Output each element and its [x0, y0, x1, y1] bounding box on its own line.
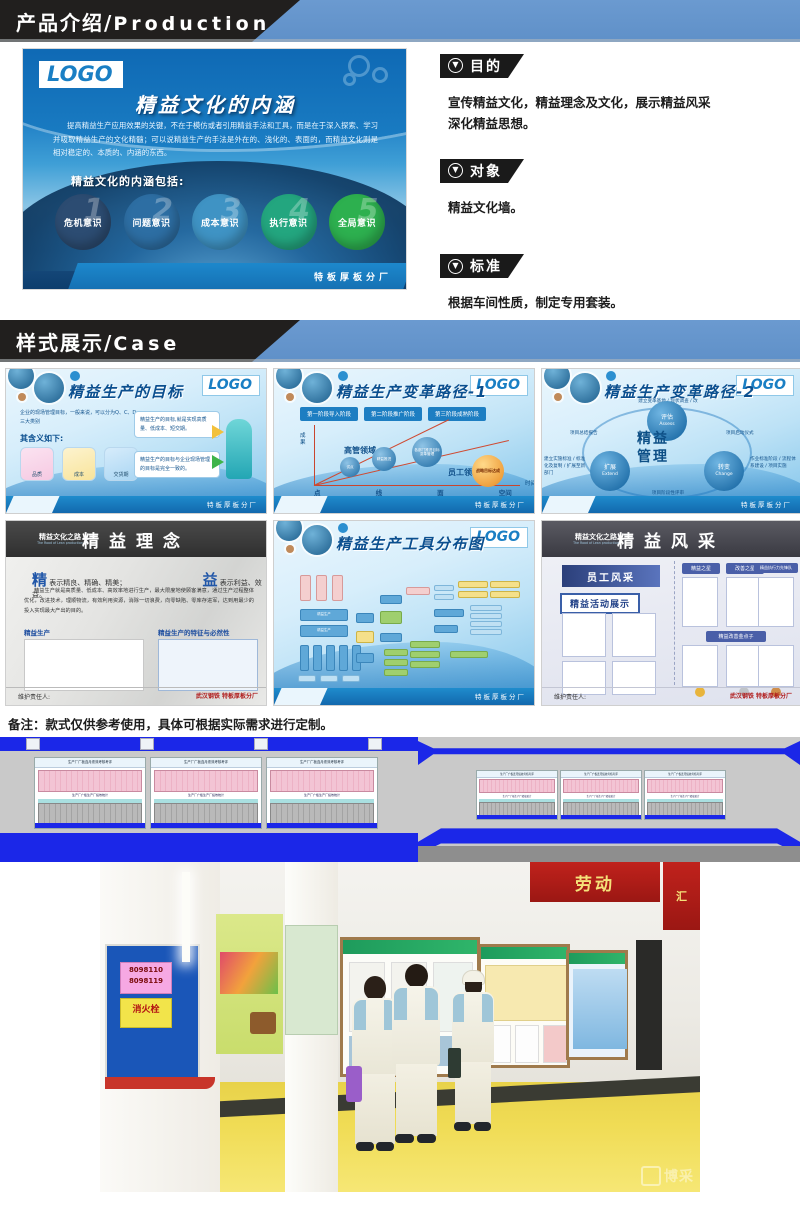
cycle-caption-left-list: 建立实施标准 / 标准化及复制 / 扩展至新部门: [544, 457, 588, 478]
thumb-title: 精益生产工具分布图: [336, 533, 485, 554]
board-gray-table: [38, 803, 141, 825]
concept-text-jing: 表示精良、精确、精美；: [49, 579, 126, 587]
gear-icon: [343, 73, 356, 86]
poster-subtitle: 精益文化的内涵包括:: [71, 173, 184, 189]
quality-label: 品质: [32, 471, 42, 478]
poster-circle-item: 4 执行意识: [261, 194, 317, 250]
map-node: [470, 621, 502, 627]
green-poster-art: [220, 952, 278, 994]
map-node: [339, 645, 348, 671]
thumb-footer-text: 特板厚板分厂: [475, 499, 526, 509]
notice-sheet: [485, 965, 569, 1021]
section-title-production: 产品介绍/Production: [0, 7, 270, 36]
map-node: [320, 675, 338, 682]
poster-circle-label: 危机意识: [64, 216, 102, 229]
phase-chip-group: 第一阶段导入阶段 第二阶段推广阶段 第三阶段成熟阶段: [300, 407, 486, 421]
map-node: [490, 591, 520, 598]
board-header: 生产厂广板连月绩效考核考评: [35, 758, 145, 768]
render-row: 生产厂广板连月绩效考核考评 生产厂广板生产厂绩效统计 生产厂广板连月绩效考核考评…: [0, 737, 800, 862]
chart-bubble: 试点: [340, 457, 360, 477]
info-block-target: ▼ 对象 精益文化墙。: [440, 157, 790, 218]
map-root-node-2: 精益生产: [300, 625, 348, 637]
case-body: LOGO 精益生产的目标 企业的现场管理目标，一般来说，可以分为Q、C、D三大类…: [0, 368, 800, 733]
poster-circle-item: 3 成本意识: [192, 194, 248, 250]
qcd-icon-group: 品质 成本 交货期: [20, 447, 138, 481]
thumb-desc: 企业的现场管理目标，一般来说，可以分为Q、C、D三大类别: [20, 409, 140, 426]
poster-circle-item: 5 全局意识: [329, 194, 385, 250]
map-node: [326, 645, 335, 671]
map-node: [356, 613, 374, 623]
chart-bubble: 各部门推进目标变革管理: [412, 437, 442, 467]
thumb-footer: 维护责任人: 武汉钢铁 特板厚板分厂: [6, 687, 266, 705]
board-footer: [267, 823, 377, 828]
showcase-banner: 员工风采: [562, 565, 660, 587]
map-node: [384, 659, 408, 666]
showcase-chip: 精益之星: [682, 563, 720, 574]
render-board: 生产厂广板连月绩效考核考评 生产厂广板生产厂绩效统计: [266, 757, 378, 829]
board-mid-label: 生产厂广板生产厂绩效统计: [151, 793, 261, 797]
worker-shoulder-trim: [354, 1000, 366, 1030]
wall-top-strip: [0, 737, 418, 751]
worker-shoulder-trim: [425, 988, 438, 1020]
render-board: 生产厂广板连月绩效考核考评 生产厂广板生产厂绩效统计: [150, 757, 262, 829]
thumb-footer: 特板厚板分厂: [274, 688, 534, 705]
site-photo[interactable]: 8098110 8098119 消火栓: [100, 862, 700, 1192]
concept-link-1[interactable]: 精益生产: [24, 627, 50, 637]
room-floor: [418, 846, 800, 862]
thumb-footer: 特板厚板分厂: [274, 496, 534, 513]
showcase-photo-slot: [726, 645, 762, 687]
notice-board-header: [569, 953, 625, 964]
thumb-callout-1: 精益生产的目标,就是实现高质量、低成本、短交期。: [134, 411, 220, 438]
blob-decor: [570, 373, 600, 403]
cost-icon: 成本: [62, 447, 96, 481]
note-text: 备注：款式仅供参考使用，具体可根据实际需求进行定制。: [8, 714, 800, 733]
board-mid-label: 生产厂广板生产厂绩效统计: [35, 793, 145, 797]
map-node: [450, 651, 488, 658]
path-chart: 成果 时间 高管领域 员工领域 试点 精益推进 各部门推进目标变革管理 战略目标…: [300, 425, 520, 491]
worker-shoe: [454, 1122, 471, 1131]
case-thumb-path-1[interactable]: LOGO 精益生产变革路径-1 第一阶段导入阶段 第二阶段推广阶段 第三阶段成熟…: [273, 368, 535, 514]
phase-chip: 第一阶段导入阶段: [300, 407, 358, 421]
blob-decor: [338, 371, 348, 381]
map-node: [434, 609, 464, 617]
poster-logo: LOGO: [39, 61, 123, 88]
map-node: [410, 661, 440, 668]
board-header: 生产厂广板连月绩效考核考评: [645, 771, 725, 778]
chart-goal-bubble: 战略目标达成: [472, 455, 504, 487]
cost-label: 成本: [74, 471, 84, 478]
board-header: 生产厂广板连月绩效考核考评: [561, 771, 641, 778]
watermark-logo-icon: [641, 1166, 661, 1186]
board-mid-label: 生产厂广板生产厂绩效统计: [267, 793, 377, 797]
chart-domain-top: 高管领域: [344, 445, 376, 456]
board-footer: [35, 823, 145, 828]
render-board: 生产厂广板连月绩效考核考评 生产厂广板生产厂绩效统计: [476, 770, 558, 820]
board-gray-table: [270, 803, 373, 825]
info-text-purpose: 宣传精益文化，精益理念及文化，展示精益风采 深化精益思想。: [448, 92, 790, 136]
brand-badge-sub: The Road of Lean production: [573, 541, 619, 545]
case-thumb-tools-map[interactable]: LOGO 精益生产工具分布图 精益生产 精益生产: [273, 520, 535, 706]
board-footer: [645, 815, 725, 819]
green-poster-photo: [250, 1012, 276, 1034]
blob-decor: [286, 393, 294, 401]
showcase-photo-slot: [562, 613, 606, 657]
blob-decor: [302, 373, 332, 403]
concept-panel-right: [158, 639, 258, 691]
thumb-footer-text: 特板厚板分厂: [741, 499, 792, 509]
concept-link-2[interactable]: 精益生产的特征与必然性: [158, 627, 230, 637]
board-pink-table: [479, 779, 554, 793]
delivery-label: 交货期: [113, 471, 128, 478]
concept-panel-left: [24, 639, 144, 691]
board-title: 生产厂广板连月绩效考核考评: [477, 772, 557, 776]
thumb-footer-left: 维护责任人:: [18, 692, 50, 701]
board-title: 生产厂广板连月绩效考核考评: [35, 759, 145, 764]
cycle-caption-right-arrow: 项目启动仪式: [726, 431, 778, 438]
info-tag-label: 对象: [470, 161, 502, 181]
map-node: [356, 653, 374, 663]
map-node: [470, 629, 502, 635]
showcase-divider: [674, 561, 675, 685]
section-header-case: 样式展示/Case: [0, 320, 800, 362]
section-header-dark-panel: 样式展示/Case: [0, 320, 300, 362]
map-node: [380, 611, 402, 624]
brand-badge: 精益文化之路 The Road of Lean production: [556, 527, 636, 551]
poster-circle-item: 1 危机意识: [55, 194, 111, 250]
chart-bubble: 精益推进: [372, 447, 396, 471]
info-tag-purpose: ▼ 目的: [440, 54, 508, 78]
worker-2: [392, 964, 440, 1150]
thumb-header-bar: 精益理念 精益文化之路 The Road of Lean production: [6, 521, 266, 557]
chart-y-label: 成果: [300, 433, 308, 446]
poster-circle-list: 1 危机意识 2 问题意识 3 成本意识 4 执行意识 5 全局意识: [55, 194, 385, 250]
map-node: [313, 645, 322, 671]
board-footer: [477, 815, 557, 819]
map-node: [384, 669, 408, 676]
cycle-node-extend: 扩展 Extend: [590, 451, 630, 491]
board-title: 生产厂广板连月绩效考核考评: [645, 772, 725, 776]
phase-chip: 第三阶段成熟阶段: [428, 407, 486, 421]
map-node: [406, 587, 430, 595]
section-title-cn: 产品介绍: [16, 11, 104, 35]
section-title-case: 样式展示/Case: [0, 327, 180, 356]
thumb-footer-left: 维护责任人:: [554, 692, 586, 701]
chevron-down-circle-icon: ▼: [448, 259, 463, 274]
blob-decor: [302, 525, 332, 555]
hydrant-base-shelf: [105, 1077, 215, 1089]
notice-sheet: [543, 1025, 567, 1063]
poster-circle-label: 执行意识: [269, 216, 307, 229]
emergency-number-1: 8098110: [121, 965, 171, 976]
section-title-cn: 样式展示: [16, 331, 104, 355]
poster-circle-label: 成本意识: [201, 216, 239, 229]
board-pink-table: [270, 770, 373, 792]
showcase-chip-mid: 精益改善金点子: [706, 631, 766, 642]
worker-3: [452, 970, 494, 1136]
map-root-node: 精益生产: [300, 609, 348, 621]
blob-decor: [544, 368, 570, 389]
cycle-node-change: 转变 Change: [704, 451, 744, 491]
emergency-number-sign: 8098110 8098119: [120, 962, 172, 994]
board-title: 生产厂广板连月绩效考核考评: [561, 772, 641, 776]
quality-icon: 品质: [20, 447, 54, 481]
blob-decor: [18, 393, 26, 401]
map-node: [342, 675, 360, 682]
thumb-header-bar: 精益风采 精益文化之路 The Road of Lean production: [542, 521, 800, 557]
info-text-standard: 根据车间性质，制定专用套装。: [448, 292, 790, 314]
wall-light-fixture: [26, 738, 40, 750]
thumb-footer: 特板厚板分厂: [542, 496, 800, 513]
notice-board-header: [481, 947, 567, 959]
case-thumb-lean-concept[interactable]: 精益理念 精益文化之路 The Road of Lean production …: [5, 520, 267, 706]
worker-shoulder-trim: [482, 994, 493, 1022]
red-banner-2: 汇: [663, 862, 700, 930]
blob-decor: [70, 371, 80, 381]
case-thumb-lean-showcase[interactable]: 精益风采 精益文化之路 The Road of Lean production …: [541, 520, 800, 706]
thumb-subtitle: 其含义如下:: [20, 433, 63, 444]
board-pink-table: [154, 770, 257, 792]
render-front-view[interactable]: 生产厂广板连月绩效考核考评 生产厂广板生产厂绩效统计 生产厂广板连月绩效考核考评…: [0, 737, 418, 862]
showcase-left-title: 精益活动展示: [560, 593, 640, 614]
map-node: [434, 594, 454, 600]
showcase-photo-slot: [758, 645, 794, 687]
worker-shoulder-trim: [394, 988, 407, 1020]
chevron-down-circle-icon: ▼: [448, 58, 463, 73]
info-block-purpose: ▼ 目的 宣传精益文化，精益理念及文化，展示精益风采 深化精益思想。: [440, 52, 790, 135]
blob-decor: [8, 368, 34, 389]
map-node: [316, 575, 327, 601]
info-line: 根据车间性质，制定专用套装。: [448, 292, 790, 314]
section-header-production: 产品介绍/Production: [0, 0, 800, 42]
thumb-title: 精益生产的目标: [68, 381, 184, 402]
cycle-caption-left-arrow: 项目总结报告: [570, 431, 618, 438]
showcase-photo-slot: [758, 577, 794, 627]
worker-bag: [346, 1066, 362, 1102]
section-title-sep: /: [104, 331, 113, 355]
thumb-footer-text: 特板厚板分厂: [207, 499, 258, 509]
map-node: [380, 633, 402, 642]
wall-bottom-strip: [0, 833, 418, 862]
blob-decor: [338, 523, 348, 533]
phase-chip: 第二阶段推广阶段: [364, 407, 422, 421]
showcase-chip: 精益执行力先锋队: [754, 563, 798, 573]
cycle-node-cn: 评估: [661, 415, 673, 422]
wall-light-fixture: [368, 738, 382, 750]
poster-circle-label: 问题意识: [132, 216, 170, 229]
board-mid-label: 生产厂广板生产厂绩效统计: [477, 794, 557, 798]
thumb-footer: 维护责任人: 武汉钢铁 特板厚板分厂: [542, 687, 800, 705]
board-gray-table: [154, 803, 257, 825]
person-figure-icon: [226, 419, 252, 479]
section-header-shadow: [0, 359, 800, 362]
brand-badge: 精益文化之路 The Road of Lean production: [20, 527, 100, 551]
emergency-number-2: 8098119: [121, 976, 171, 987]
info-line: 宣传精益文化，精益理念及文化，展示精益风采: [448, 92, 790, 114]
map-node: [356, 631, 374, 643]
notice-sheet: [573, 969, 627, 1049]
delivery-icon: 交货期: [104, 447, 138, 481]
gear-icon: [372, 67, 388, 83]
thumb-footer-right: 武汉钢铁 特板厚板分厂: [196, 691, 258, 700]
watermark: 博采: [641, 1166, 694, 1186]
info-tag-label: 标准: [470, 256, 502, 276]
notice-sheet: [515, 1025, 539, 1063]
board-header: 生产厂广板连月绩效考核考评: [151, 758, 261, 768]
map-node: [384, 649, 408, 656]
info-column: ▼ 目的 宣传精益文化，精益理念及文化，展示精益风采 深化精益思想。 ▼ 对象 …: [440, 52, 790, 336]
showcase-photo-slot: [612, 613, 656, 657]
brand-badge-sub: The Road of Lean production: [37, 541, 83, 545]
board-pink-table: [647, 779, 722, 793]
info-block-standard: ▼ 标准 根据车间性质，制定专用套装。: [440, 253, 790, 314]
chevron-down-circle-icon: ▼: [448, 163, 463, 178]
blob-decor: [286, 545, 294, 553]
map-node: [434, 585, 454, 591]
thumb-footer-right: 武汉钢铁 特板厚板分厂: [730, 691, 792, 700]
concept-paragraph: 精益生产就是高质量、低成本、高效率地进行生产，最大限度地使顾客满意，通过生产过程…: [24, 587, 254, 617]
info-text-target: 精益文化墙。: [448, 197, 790, 219]
production-body: LOGO 精益文化的内涵 提高精益生产应用效果的关键，不在于模仿或者引用精益手法…: [0, 42, 800, 320]
poster-circle-item: 2 问题意识: [124, 194, 180, 250]
notice-board-header: [343, 940, 477, 954]
thumb-logo: LOGO: [202, 375, 260, 396]
case-grid: LOGO 精益生产的目标 企业的现场管理目标，一般来说，可以分为Q、C、D三大类…: [0, 368, 800, 706]
worker-folder: [448, 1048, 461, 1078]
chart-x-label: 时间: [525, 479, 535, 487]
map-node: [490, 581, 520, 588]
map-node: [434, 625, 458, 633]
board-mid-label: 生产厂广板生产厂绩效统计: [645, 794, 725, 798]
cycle-node-en: Change: [715, 472, 732, 477]
fluorescent-light: [182, 872, 190, 962]
worker-shoe: [474, 1122, 491, 1131]
worker-shoe: [356, 1142, 374, 1151]
blob-decor: [276, 368, 302, 389]
showcase-photo-slot: [682, 577, 718, 627]
blob-decor: [276, 520, 302, 541]
worker-shoe: [395, 1134, 414, 1143]
cycle-caption-right-list: 作业标准阶段 / 流程体系建设 / 项目实施: [750, 457, 798, 471]
board-header: 生产厂广板连月绩效考核考评: [267, 758, 377, 768]
map-node: [300, 575, 311, 601]
cycle-center-label: 精益管理: [637, 431, 669, 466]
map-node: [410, 641, 440, 648]
wall-light-fixture: [140, 738, 154, 750]
board-title: 生产厂广板连月绩效考核考评: [267, 759, 377, 764]
brand-badge-title: 精益文化之路: [575, 533, 617, 542]
map-node: [458, 581, 488, 588]
poster-circle-label: 全局意识: [338, 216, 376, 229]
map-node: [300, 645, 309, 671]
gear-icon-group: [326, 53, 396, 91]
thumb-title: 精益生产变革路径-1: [336, 381, 488, 402]
case-thumb-lean-goal[interactable]: LOGO 精益生产的目标 企业的现场管理目标，一般来说，可以分为Q、C、D三大类…: [5, 368, 267, 514]
map-node: [380, 595, 402, 604]
showcase-photo-slot: [682, 645, 718, 687]
board-title: 生产厂广板连月绩效考核考评: [151, 759, 261, 764]
info-line: 精益文化墙。: [448, 197, 790, 219]
notice-board-3: [566, 950, 628, 1060]
cycle-node-en: Extend: [602, 472, 618, 477]
board-pink-table: [38, 770, 141, 792]
chart-y-axis: [314, 425, 315, 485]
map-node: [470, 605, 502, 611]
board-footer: [561, 815, 641, 819]
section-title-en: Production: [113, 13, 270, 35]
red-banner-1: 劳动: [530, 862, 660, 902]
poster-title: 精益文化的内涵: [23, 89, 407, 118]
section-header-dark-panel: 产品介绍/Production: [0, 0, 300, 42]
worker-pants: [396, 1064, 437, 1136]
map-node: [332, 575, 343, 601]
fire-hydrant-sign: 消火栓: [120, 998, 172, 1028]
arrow-icon: [212, 425, 224, 439]
wall-light-fixture: [254, 738, 268, 750]
map-node: [458, 591, 488, 598]
cycle-node-en: Assess: [659, 422, 674, 427]
map-node: [410, 651, 440, 658]
case-thumb-path-2[interactable]: LOGO 精益生产变革路径-2 建立变革基地 / 现状调查 / 改善机会切入点 …: [541, 368, 800, 514]
board-header: 生产厂广板连月绩效考核考评: [477, 771, 557, 778]
board-mid-label: 生产厂广板生产厂绩效统计: [561, 794, 641, 798]
pillar-notice: [285, 925, 338, 1035]
worker-shoe: [417, 1134, 436, 1143]
brand-badge-title: 精益文化之路: [39, 533, 81, 542]
blob-decor: [606, 371, 616, 381]
board-footer: [151, 823, 261, 828]
product-poster: LOGO 精益文化的内涵 提高精益生产应用效果的关键，不在于模仿或者引用精益手法…: [22, 48, 407, 290]
doorway: [636, 940, 662, 1070]
map-node: [298, 675, 316, 682]
render-board: 生产厂广板连月绩效考核考评 生产厂广板生产厂绩效统计: [560, 770, 642, 820]
thumb-footer-text: 特板厚板分厂: [475, 691, 526, 701]
cycle-node-cn: 扩展: [604, 465, 616, 472]
info-tag-target: ▼ 对象: [440, 159, 508, 183]
blob-decor: [34, 373, 64, 403]
arrow-icon: [212, 455, 224, 469]
watermark-text: 博采: [664, 1166, 694, 1186]
showcase-photo-slot: [726, 577, 762, 627]
section-title-sep: /: [104, 11, 113, 35]
poster-footer-text: 特板厚板分厂: [314, 270, 392, 283]
worker-hair: [405, 964, 428, 988]
thumb-callout-2: 精益生产的目标与企业现场管理的目标是完全一致的。: [134, 451, 220, 478]
map-node: [470, 613, 502, 619]
info-tag-standard: ▼ 标准: [440, 254, 508, 278]
info-line: 深化精益思想。: [448, 113, 790, 135]
render-board: 生产厂广板连月绩效考核考评 生产厂广板生产厂绩效统计: [644, 770, 726, 820]
board-pink-table: [563, 779, 638, 793]
worker-hair: [364, 976, 386, 1000]
render-board: 生产厂广板连月绩效考核考评 生产厂广板生产厂绩效统计: [34, 757, 146, 829]
cycle-node-cn: 转变: [718, 465, 730, 472]
thumb-footer: 特板厚板分厂: [6, 496, 266, 513]
render-corner-view[interactable]: 生产厂广板连月绩效考核考评 生产厂广板生产厂绩效统计 生产厂广板连月绩效考核考评…: [418, 737, 800, 862]
worker-shoulder-trim: [453, 994, 464, 1022]
poster-body-text: 提高精益生产应用效果的关键，不在于模仿或者引用精益手法和工具，而是在于深入探索、…: [53, 119, 378, 160]
section-title-en: Case: [113, 333, 180, 355]
info-tag-label: 目的: [470, 56, 502, 76]
blob-decor: [554, 393, 562, 401]
photo-section: 8098110 8098119 消火栓: [0, 862, 800, 1192]
